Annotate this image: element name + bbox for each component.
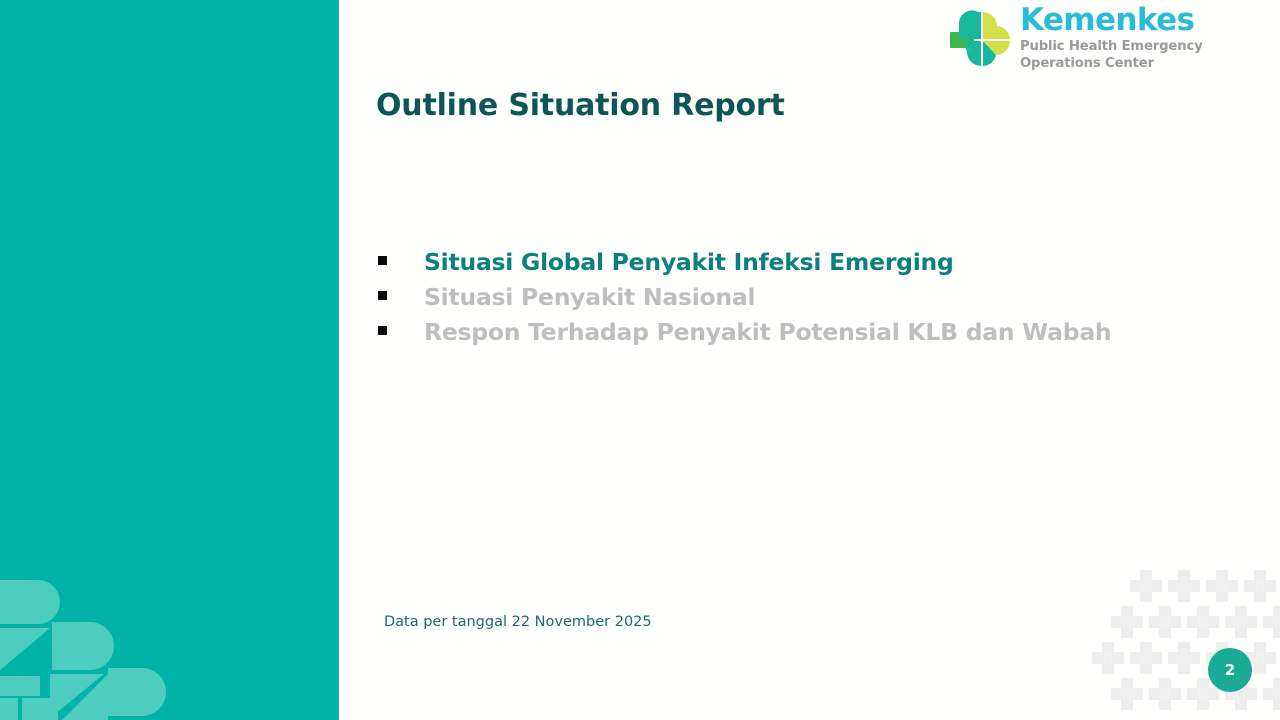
square-bullet-icon xyxy=(378,291,387,300)
logo-tagline: Public Health Emergency Operations Cente… xyxy=(1020,38,1275,74)
square-bullet-icon xyxy=(378,326,387,335)
kemenkes-logo: Kemenkes Public Health Emergency Operati… xyxy=(950,6,1275,72)
outline-item-label: Respon Terhadap Penyakit Potensial KLB d… xyxy=(424,321,1111,345)
square-bullet-icon xyxy=(378,256,387,265)
batik-corner-pattern xyxy=(1090,560,1280,720)
outline-item-label: Situasi Penyakit Nasional xyxy=(424,286,755,310)
kemenkes-clover-icon xyxy=(950,8,1016,70)
sidebar-decorative-pattern xyxy=(0,570,194,720)
outline-item-situasi-nasional[interactable]: Situasi Penyakit Nasional xyxy=(378,286,1238,321)
page-number-badge: 2 xyxy=(1208,648,1252,692)
outline-item-label: Situasi Global Penyakit Infeksi Emerging xyxy=(424,251,954,275)
logo-text-block: Kemenkes Public Health Emergency Operati… xyxy=(1020,5,1275,73)
outline-list: Situasi Global Penyakit Infeksi Emerging… xyxy=(378,251,1238,356)
data-as-of-note: Data per tanggal 22 November 2025 xyxy=(384,614,652,630)
outline-item-respon-klb[interactable]: Respon Terhadap Penyakit Potensial KLB d… xyxy=(378,321,1238,356)
outline-item-situasi-global[interactable]: Situasi Global Penyakit Infeksi Emerging xyxy=(378,251,1238,286)
left-accent-sidebar xyxy=(0,0,339,720)
slide-canvas: Kemenkes Public Health Emergency Operati… xyxy=(0,0,1280,720)
logo-wordmark: Kemenkes xyxy=(1020,5,1275,37)
page-title: Outline Situation Report xyxy=(376,88,785,123)
